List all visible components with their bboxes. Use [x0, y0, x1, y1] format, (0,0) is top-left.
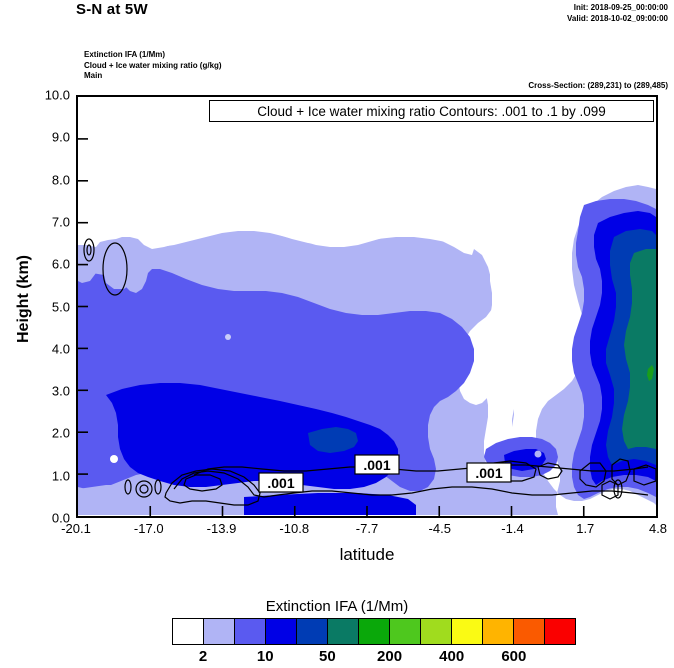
colorbar-title: Extinction IFA (1/Mm) [0, 598, 674, 615]
x-tick-label: -20.1 [61, 521, 91, 536]
colorbar-cell [235, 619, 266, 644]
run-time-block: Init: 2018-09-25_00:00:00 Valid: 2018-10… [567, 2, 668, 24]
y-axis-ticks: 0.01.02.03.04.05.06.07.08.09.010.0 [0, 95, 70, 518]
field-line-extinction: Extinction IFA (1/Mm) [84, 50, 222, 61]
colorbar-tick-label: 600 [501, 648, 526, 665]
colorbar-cell [514, 619, 545, 644]
page-title: S-N at 5W [76, 1, 148, 18]
y-tick-label: 7.0 [52, 214, 70, 229]
y-tick-label: 4.0 [52, 341, 70, 356]
init-time-label: Init: 2018-09-25_00:00:00 [567, 2, 668, 13]
colorbar [172, 618, 576, 645]
colorbar-tick-label: 10 [257, 648, 274, 665]
colorbar-cell [266, 619, 297, 644]
x-tick-label: 1.7 [576, 521, 594, 536]
contour-label-2: .001 [363, 457, 390, 473]
colorbar-cell [545, 619, 575, 644]
x-tick-label: -1.4 [501, 521, 523, 536]
x-tick-label: -7.7 [356, 521, 378, 536]
colorbar-cell [359, 619, 390, 644]
contour-label-1: .001 [267, 475, 294, 491]
colorbar-cell [483, 619, 514, 644]
colorbar-tick-label: 2 [199, 648, 207, 665]
colorbar-cell [328, 619, 359, 644]
x-tick-label: -10.8 [279, 521, 309, 536]
field-description-block: Extinction IFA (1/Mm) Cloud + Ice water … [84, 50, 222, 82]
colorbar-tick-label: 400 [439, 648, 464, 665]
contour-plot: .001 .001 .001 [78, 97, 656, 516]
contour-label-3: .001 [475, 465, 502, 481]
cross-section-label: Cross-Section: (289,231) to (289,485) [528, 81, 668, 90]
y-tick-label: 6.0 [52, 257, 70, 272]
colorbar-cell [390, 619, 421, 644]
colorbar-cell [204, 619, 235, 644]
colorbar-cell [297, 619, 328, 644]
colorbar-tick-labels: 21050200400600 [172, 648, 576, 668]
y-tick-label: 10.0 [45, 88, 70, 103]
colorbar-cell [452, 619, 483, 644]
x-tick-label: -17.0 [134, 521, 164, 536]
contour-title-box: Cloud + Ice water mixing ratio Contours:… [209, 100, 654, 122]
y-tick-label: 5.0 [52, 299, 70, 314]
x-tick-label: 4.8 [649, 521, 667, 536]
speck-light-1 [110, 455, 118, 463]
y-tick-label: 3.0 [52, 384, 70, 399]
y-tick-label: 1.0 [52, 468, 70, 483]
x-axis-ticks: -20.1-17.0-13.9-10.8-7.7-4.5-1.41.74.8 [76, 521, 658, 541]
field-line-mixing-ratio: Cloud + Ice water mixing ratio (g/kg) [84, 61, 222, 72]
region-light-bottom-left [78, 485, 138, 515]
valid-time-label: Valid: 2018-10-02_09:00:00 [567, 13, 668, 24]
x-tick-label: -13.9 [207, 521, 237, 536]
colorbar-cell [421, 619, 452, 644]
y-tick-label: 9.0 [52, 130, 70, 145]
speck-light-3 [535, 451, 542, 458]
field-line-domain: Main [84, 71, 222, 82]
colorbar-cell [173, 619, 204, 644]
y-tick-label: 8.0 [52, 172, 70, 187]
x-axis-title: latitude [76, 545, 658, 565]
plot-area: .001 .001 .001 Cloud + Ice water mixing … [76, 95, 658, 518]
y-axis-title: Height (km) [15, 199, 33, 399]
colorbar-tick-label: 50 [319, 648, 336, 665]
speck-light-2 [225, 334, 231, 340]
colorbar-tick-label: 200 [377, 648, 402, 665]
x-tick-label: -4.5 [429, 521, 451, 536]
y-tick-label: 2.0 [52, 426, 70, 441]
